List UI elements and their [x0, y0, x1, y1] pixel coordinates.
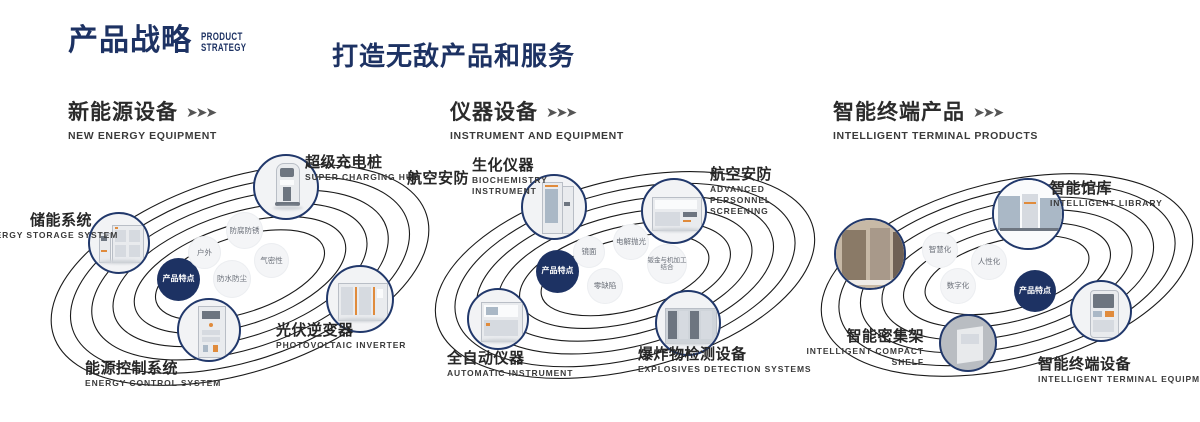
label-cn: 航空安防 — [710, 166, 804, 183]
label-en: ENERGY STORAGE SYSTEM — [0, 230, 92, 241]
terminal-equipment-illustration — [1072, 282, 1130, 340]
feature-bubble-label: 人性化 — [978, 258, 1001, 266]
label-cn: 全自动仪器 — [447, 350, 573, 367]
screening-illustration — [643, 180, 705, 242]
label-cn: 储能系统 — [0, 212, 92, 229]
feature-bubble-label: 户外 — [197, 249, 212, 257]
compact-shelf-illustration — [836, 220, 904, 288]
chevron-right-icon: ➤➤➤ — [546, 105, 575, 121]
label-energy-control-system: 能源控制系统 ENERGY CONTROL SYSTEM — [85, 360, 221, 389]
product-node-energy-control-system[interactable] — [177, 298, 241, 362]
feature-badge-main-label: 产品特点 — [1019, 287, 1051, 295]
section-heading-instrument: 仪器设备➤➤➤ INSTRUMENT AND EQUIPMENT — [450, 96, 624, 142]
label-en: PHOTOVOLTAIC INVERTER — [276, 340, 406, 351]
feature-bubble-label: 智慧化 — [929, 246, 952, 254]
feature-bubble-0: 户外 — [188, 236, 221, 269]
energy-control-illustration — [179, 300, 239, 360]
label-en: ENERGY CONTROL SYSTEM — [85, 378, 221, 389]
page-title-cn: 产品战略 — [68, 26, 192, 56]
chevron-right-icon: ➤➤➤ — [186, 105, 215, 121]
label-photovoltaic-inverter: 光伏逆变器 PHOTOVOLTAIC INVERTER — [276, 322, 406, 351]
product-node-automatic-instrument[interactable] — [467, 288, 529, 350]
page-title-en: PRODUCT STRATEGY — [201, 32, 246, 54]
feature-bubble-3: 气密性 — [254, 243, 289, 278]
feature-bubble-2: 钣金与机加工结合 — [647, 244, 687, 284]
feature-badge-main: 产品特点 — [1014, 270, 1056, 312]
label-cn: 智能馆库 — [1050, 180, 1163, 197]
automatic-instrument-illustration — [469, 290, 527, 348]
label-cn: 光伏逆变器 — [276, 322, 406, 339]
cluster-terminal: 智慧化 人性化 数字化 产品特点 — [812, 150, 1200, 400]
poster-canvas: 产品战略 PRODUCT STRATEGY 打造无敌产品和服务 新能源设备➤➤➤… — [0, 0, 1200, 422]
feature-badge-main: 产品特点 — [536, 250, 579, 293]
product-node-intelligent-compact-shelf[interactable] — [834, 218, 906, 290]
label-en: AUTOMATIC INSTRUMENT — [447, 368, 573, 379]
feature-bubble-label: 防腐防锈 — [230, 227, 260, 235]
section-heading-text: 智能终端产品 — [833, 100, 965, 124]
feature-bubble-label: 电解抛光 — [616, 238, 646, 246]
label-intelligent-terminal-equipment: 智能终端设备 INTELLIGENT TERMINAL EQUIPMENT — [1038, 356, 1200, 385]
feature-bubble-label: 数字化 — [947, 282, 970, 290]
product-node-energy-storage[interactable] — [88, 212, 150, 274]
cluster-new-energy: 产品特点 户外 防腐防锈 防水防尘 气密性 — [40, 150, 440, 400]
feature-badge-main-label: 产品特点 — [542, 267, 574, 275]
label-en: BIOCHEMISTRY INSTRUMENT — [472, 175, 552, 196]
label-automatic-instrument: 全自动仪器 AUTOMATIC INSTRUMENT — [447, 350, 573, 379]
label-en: INTELLIGENT LIBRARY — [1050, 198, 1163, 209]
section-heading-text: 新能源设备 — [68, 100, 178, 124]
product-node-intelligent-terminal-equipment[interactable] — [1070, 280, 1132, 342]
label-aviation-security: 航空安防 — [389, 170, 469, 187]
chevron-right-icon: ➤➤➤ — [973, 105, 1002, 121]
section-heading-en: NEW ENERGY EQUIPMENT — [68, 130, 217, 142]
section-heading-en: INTELLIGENT TERMINAL PRODUCTS — [833, 130, 1038, 142]
feature-bubble-label: 钣金与机加工结合 — [647, 257, 687, 271]
label-intelligent-compact-shelf: 智能密集架 INTELLIGENT COMPACT SHELF — [804, 328, 924, 368]
label-en: EXPLOSIVES DETECTION SYSTEMS — [638, 364, 812, 375]
label-explosives-detection: 爆炸物检测设备 EXPLOSIVES DETECTION SYSTEMS — [638, 346, 812, 375]
section-heading-terminal: 智能终端产品➤➤➤ INTELLIGENT TERMINAL PRODUCTS — [833, 96, 1038, 142]
label-cn: 智能密集架 — [804, 328, 924, 345]
label-en: INTELLIGENT COMPACT SHELF — [804, 346, 924, 367]
feature-bubble-3: 零缺陷 — [587, 268, 623, 304]
label-en: ADVANCED PERSONNEL SCREENING — [710, 184, 804, 216]
label-cn: 生化仪器 — [472, 157, 552, 174]
feature-bubble-label: 防水防尘 — [217, 275, 247, 283]
label-intelligent-library: 智能馆库 INTELLIGENT LIBRARY — [1050, 180, 1163, 209]
section-heading-text: 仪器设备 — [450, 100, 538, 124]
section-heading-cn: 仪器设备➤➤➤ — [450, 96, 624, 126]
section-heading-cn: 新能源设备➤➤➤ — [68, 96, 217, 126]
feature-bubble-0: 智慧化 — [922, 232, 958, 268]
energy-storage-illustration — [90, 214, 148, 272]
section-heading-en: INSTRUMENT AND EQUIPMENT — [450, 130, 624, 142]
page-title-en-line2: STRATEGY — [201, 43, 246, 54]
label-biochemistry-instrument: 生化仪器 BIOCHEMISTRY INSTRUMENT — [472, 157, 552, 197]
terminal-kiosk-illustration — [941, 316, 995, 370]
section-heading-cn: 智能终端产品➤➤➤ — [833, 96, 1038, 126]
product-node-terminal-kiosk[interactable] — [939, 314, 997, 372]
feature-bubble-2: 防水防尘 — [213, 260, 251, 298]
label-cn: 爆炸物检测设备 — [638, 346, 812, 363]
label-cn: 超级充电桩 — [305, 154, 420, 171]
product-node-advanced-personnel-screening[interactable] — [641, 178, 707, 244]
label-cn: 能源控制系统 — [85, 360, 221, 377]
feature-badge-main-label: 产品特点 — [163, 275, 195, 283]
label-cn: 智能终端设备 — [1038, 356, 1200, 373]
label-advanced-personnel-screening: 航空安防 ADVANCED PERSONNEL SCREENING — [710, 166, 804, 216]
page-title: 产品战略 PRODUCT STRATEGY — [68, 26, 264, 56]
cluster-instrument: 产品特点 镜面 电解抛光 钣金与机加工结合 零缺陷 — [425, 150, 825, 400]
label-cn: 航空安防 — [389, 170, 469, 187]
feature-bubble-0: 镜面 — [573, 236, 605, 268]
label-energy-storage: 储能系统 ENERGY STORAGE SYSTEM — [0, 212, 92, 241]
feature-bubble-2: 数字化 — [940, 268, 976, 304]
page-slogan: 打造无敌产品和服务 — [332, 36, 575, 73]
label-en: INTELLIGENT TERMINAL EQUIPMENT — [1038, 374, 1200, 385]
feature-bubble-label: 零缺陷 — [594, 282, 617, 290]
section-heading-new-energy: 新能源设备➤➤➤ NEW ENERGY EQUIPMENT — [68, 96, 217, 142]
feature-bubble-label: 气密性 — [260, 257, 283, 265]
feature-bubble-label: 镜面 — [582, 248, 597, 256]
feature-bubble-1: 人性化 — [971, 244, 1007, 280]
